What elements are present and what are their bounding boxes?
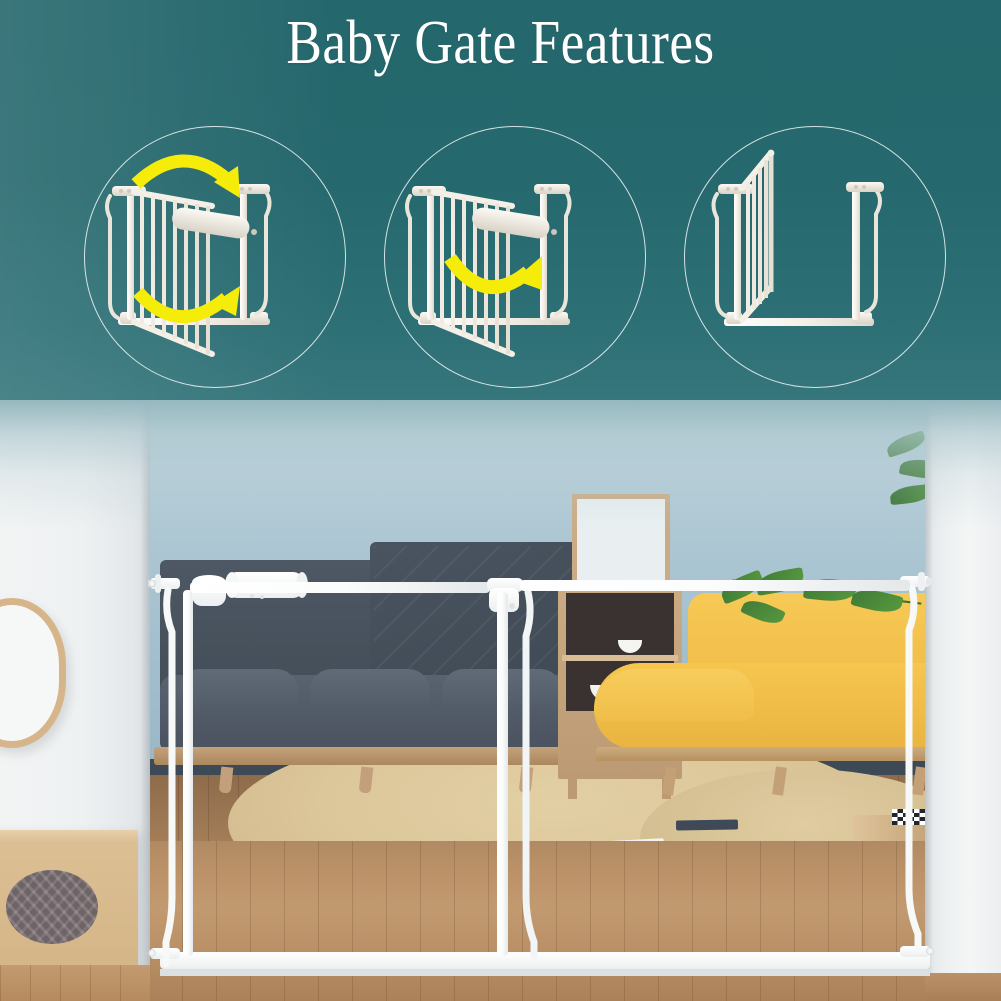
room-scene-photo [0, 400, 1001, 1001]
infographic-page: Baby Gate Features [0, 0, 1001, 1001]
wall-mount-top-left [148, 574, 180, 593]
gate-hinge-post [487, 578, 534, 956]
gate-auto-close-icon [390, 132, 640, 382]
gate-dual-swing-icon [90, 132, 340, 382]
page-title: Baby Gate Features [70, 12, 931, 74]
baby-gate [0, 400, 1001, 1001]
gate-hold-open-icon [690, 132, 940, 382]
